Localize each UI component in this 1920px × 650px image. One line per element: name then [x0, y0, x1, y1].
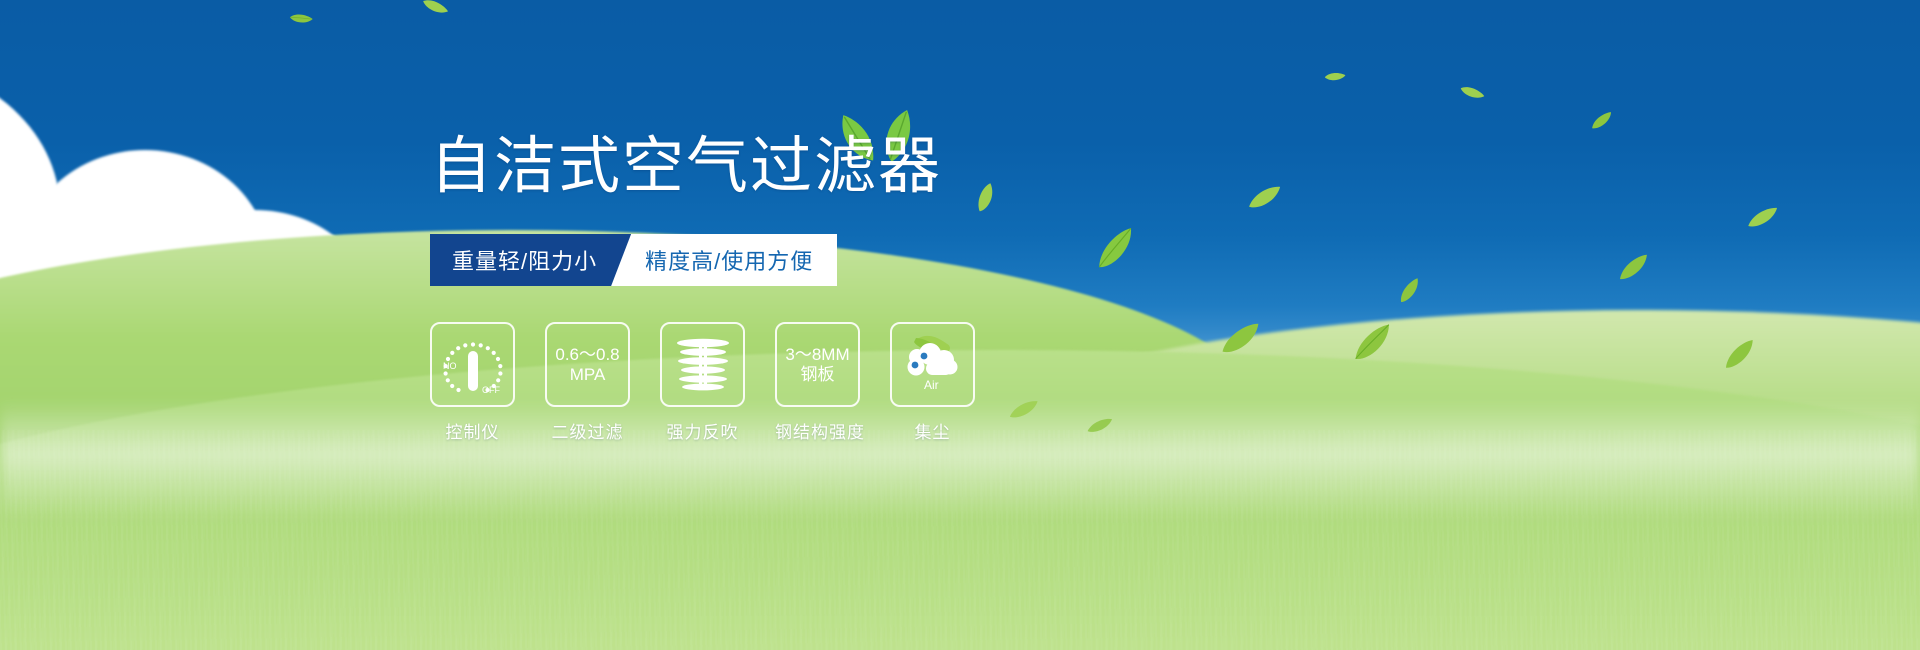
feature-item: 3～8MM 钢板 钢结构强度 — [775, 322, 860, 443]
feature-item: 强力反吹 — [660, 322, 745, 443]
gauge-label-no: NO — [443, 361, 457, 371]
feature-icon-box: NO OFF — [430, 322, 515, 407]
pressure-range: 0.6～0.8 — [555, 345, 619, 364]
feature-list: NO OFF 控制仪 0.6～0.8 MPA 二级过滤 — [430, 322, 975, 443]
feature-icon-box: 0.6～0.8 MPA — [545, 322, 630, 407]
steel-plate-text-icon: 3～8MM 钢板 — [785, 345, 849, 383]
gauge-label-off: OFF — [482, 385, 500, 395]
air-label: Air — [924, 378, 939, 392]
feature-item: NO OFF 控制仪 — [430, 322, 515, 443]
feature-caption: 集尘 — [890, 418, 975, 443]
feature-caption: 强力反吹 — [660, 418, 745, 443]
gauge-dial-icon: NO OFF — [438, 332, 508, 398]
feature-icon-box — [660, 322, 745, 407]
pressure-text-icon: 0.6～0.8 MPA — [555, 345, 619, 383]
feature-icon-box: 3～8MM 钢板 — [775, 322, 860, 407]
pressure-unit: MPA — [555, 365, 619, 384]
banner-content: 自洁式空气过滤器 重量轻/阻力小 精度高/使用方便 — [0, 0, 1920, 650]
feature-caption: 钢结构强度 — [775, 418, 860, 443]
feature-caption: 二级过滤 — [545, 418, 630, 443]
steel-material: 钢板 — [785, 365, 849, 384]
filter-coil-icon — [672, 334, 734, 396]
feature-icon-box: Air — [890, 322, 975, 407]
feature-item: 0.6～0.8 MPA 二级过滤 — [545, 322, 630, 443]
hero-banner: 自洁式空气过滤器 重量轻/阻力小 精度高/使用方便 — [0, 0, 1920, 650]
tag-precision-convenience: 精度高/使用方便 — [611, 234, 837, 286]
page-title: 自洁式空气过滤器 — [430, 136, 942, 198]
tag-weight-resistance: 重量轻/阻力小 — [430, 234, 631, 286]
steel-thickness: 3～8MM — [785, 345, 849, 364]
feature-caption: 控制仪 — [430, 418, 515, 443]
feature-item: Air 集尘 — [890, 322, 975, 443]
air-cloud-icon: Air — [900, 334, 966, 396]
tagline-bar: 重量轻/阻力小 精度高/使用方便 — [430, 234, 837, 286]
